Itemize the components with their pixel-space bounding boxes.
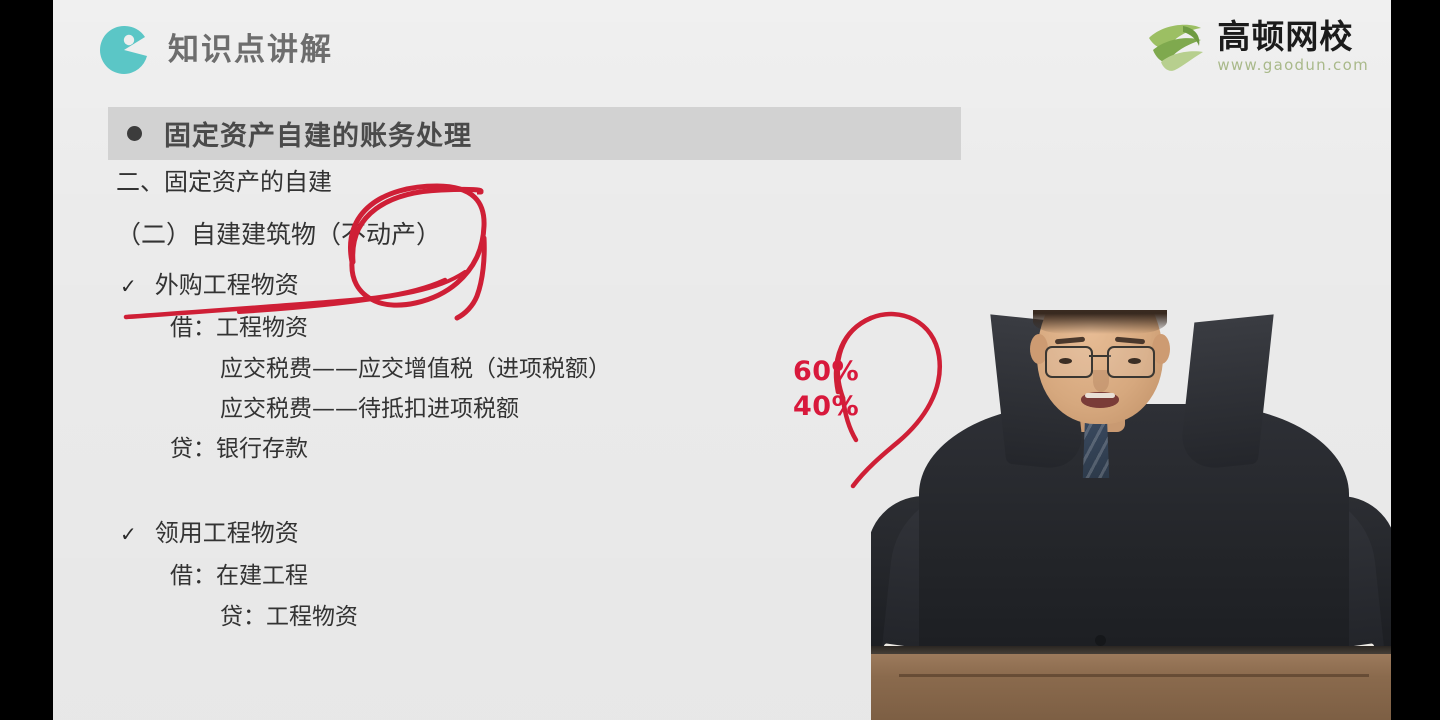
- presenter-mouth: [1081, 392, 1119, 408]
- presenter-suit-jacket: [919, 404, 1349, 674]
- presenter-jacket-button: [1095, 635, 1106, 646]
- pacman-teal-icon: [98, 24, 150, 76]
- podium: [871, 646, 1391, 720]
- lecture-slide-stage: 知识点讲解 高顿网校 www.gaodun.com 固定资产自建的账务处理: [53, 0, 1391, 720]
- corporate-name: 高顿网校: [1217, 20, 1353, 55]
- corporate-logo: 高顿网校 www.gaodun.com: [1143, 18, 1369, 76]
- slide-title-banner: 固定资产自建的账务处理: [108, 107, 961, 160]
- presenter-right-eyebrow: [1115, 337, 1145, 345]
- video-player-frame: 知识点讲解 高顿网校 www.gaodun.com 固定资产自建的账务处理: [0, 0, 1440, 720]
- letterbox-bar-left: [0, 0, 53, 720]
- presenter-right-eye: [1128, 358, 1141, 364]
- presenter-left-eye: [1059, 358, 1072, 364]
- green-leaf-swoosh-icon: [1143, 18, 1209, 76]
- check-icon: ✓: [120, 524, 137, 544]
- letterbox-bar-right: [1391, 0, 1440, 720]
- corporate-logo-text: 高顿网校 www.gaodun.com: [1217, 20, 1369, 75]
- slide-banner-title: 固定资产自建的账务处理: [164, 114, 472, 153]
- podium-groove: [899, 674, 1369, 677]
- presenter-hair: [1033, 310, 1167, 334]
- percent-value-60: 60%: [793, 355, 859, 390]
- bullet-dot-icon: [127, 126, 142, 141]
- list-item: ✓ 外购工程物资: [120, 273, 1008, 297]
- section-heading: 二、固定资产的自建: [116, 170, 1008, 194]
- presenter-left-eyebrow: [1055, 337, 1085, 345]
- ink-percent-annotation: 60% 40%: [793, 355, 859, 424]
- check-icon: ✓: [120, 276, 137, 296]
- block-heading: 外购工程物资: [155, 273, 299, 297]
- slide-header: 知识点讲解: [98, 24, 333, 76]
- presenter-video-overlay: [871, 310, 1391, 720]
- podium-front-panel: [871, 654, 1391, 720]
- corporate-url: www.gaodun.com: [1217, 56, 1369, 74]
- page-title: 知识点讲解: [168, 35, 333, 66]
- block-heading: 领用工程物资: [155, 521, 299, 545]
- subsection-heading: （二）自建建筑物（不动产）: [116, 222, 1008, 247]
- percent-value-40: 40%: [793, 390, 859, 425]
